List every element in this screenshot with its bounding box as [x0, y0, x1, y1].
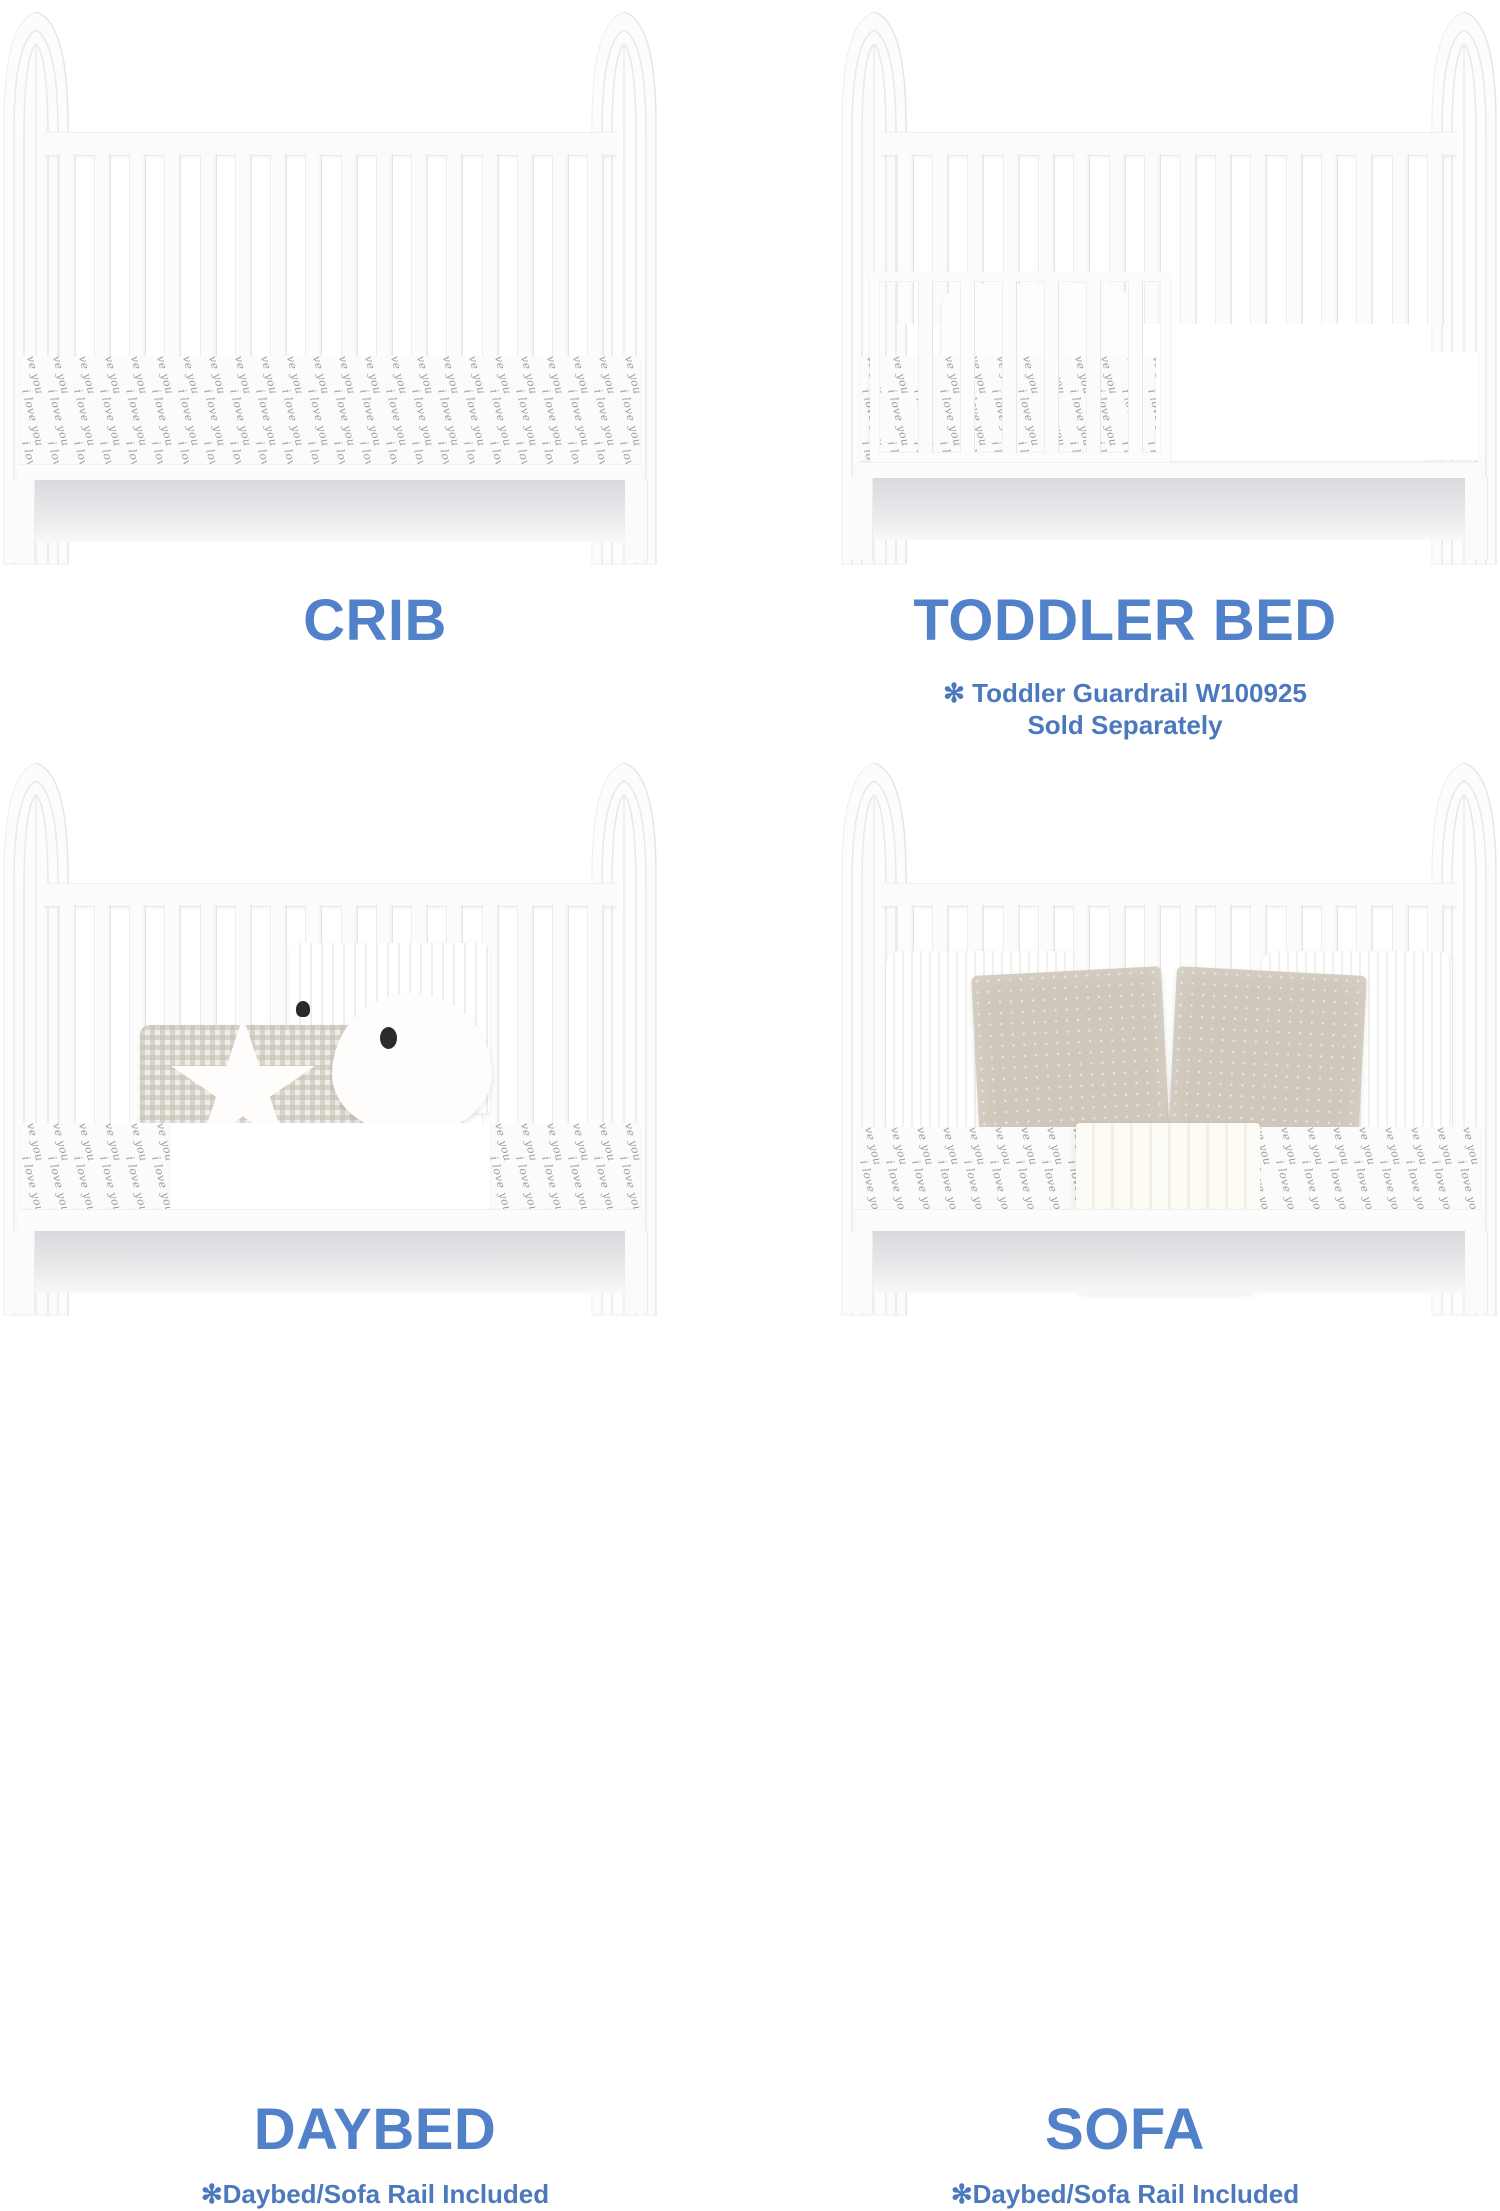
sofa-note: Daybed/Sofa Rail Included [973, 2179, 1300, 2209]
daybed-note: Daybed/Sofa Rail Included [223, 2179, 550, 2209]
sheet-script-text: i love you [858, 1159, 884, 1209]
sheet-script-text: i love you [253, 388, 280, 448]
sheet-script-text: i love you [935, 1159, 962, 1209]
daybed-note-wrap: ✻Daybed/Sofa Rail Included [0, 2179, 750, 2211]
guardrail-slat [918, 281, 933, 453]
sofa-note-wrap: ✻Daybed/Sofa Rail Included [750, 2179, 1500, 2211]
note-sofa: ✻Daybed/Sofa Rail Included [750, 2179, 1500, 2211]
guardrail-slat [1128, 281, 1143, 453]
asterisk-icon: ✻ [951, 2179, 973, 2211]
note-daybed: ✻Daybed/Sofa Rail Included [0, 2179, 750, 2211]
sheet-script-text: i love you [20, 1155, 46, 1209]
guardrail-slat [1044, 281, 1059, 453]
guardrail-frame [870, 272, 1170, 462]
guardrail-slat [1002, 281, 1017, 453]
sheet-script-text: i love you [1455, 1159, 1480, 1209]
sheet-script-text: i love you [97, 1155, 124, 1209]
daybed-under-shadow [34, 1231, 626, 1293]
sheet-script-text: i love you [461, 388, 488, 448]
crib-slat [1321, 154, 1338, 324]
sheet-script-text: i love you [883, 1159, 910, 1209]
toddler-under-shadow [872, 478, 1466, 540]
sheet-script-text: i love you [1403, 1159, 1430, 1209]
crib-top-rail [44, 132, 616, 156]
crib-slat [1427, 154, 1444, 324]
crib-leg-left [12, 480, 35, 562]
sheet-script-text: i love you [149, 388, 176, 448]
crib-slat [552, 905, 569, 1145]
sheet-script-text: i love you [617, 1155, 640, 1209]
sheet-script-text: i love you [513, 1155, 540, 1209]
sofa-under-shadow [872, 1231, 1466, 1293]
guardrail-slat [1086, 281, 1101, 453]
sheet-script-text: i love you [45, 388, 72, 448]
sheet-script-text: i love you [487, 1155, 514, 1209]
daybed-top-rail [44, 883, 616, 907]
toddler-mattress-plain [1156, 352, 1478, 460]
daybed-mattress: i love youi love youi love youi love you… [20, 1123, 640, 1209]
crib-slat [1392, 154, 1409, 324]
sheet-script-text: i love you [435, 388, 462, 448]
sheet-script-text: i love you [175, 388, 202, 448]
crib-slat [94, 905, 111, 1145]
crib-slat [1180, 154, 1197, 324]
sheet-script-text: i love you [565, 1155, 592, 1209]
sheet-script-text: i love you [617, 388, 640, 448]
sheet-script-text: i love you [71, 1155, 98, 1209]
daybed-front-rail [18, 1209, 642, 1232]
crib-illustration-daybed: i love youi love youi love youi love you… [0, 755, 660, 1315]
sheet-script-text: i love you [487, 388, 514, 448]
daybed-leg-left [12, 1231, 35, 1313]
sheet-script-text: i love you [305, 388, 332, 448]
crib-slat [517, 905, 534, 1145]
panel-toddler-bed: i love youi love youi love youi love you… [750, 0, 1500, 745]
toddler-leg-right [1465, 478, 1488, 560]
crib-slat [1215, 154, 1232, 324]
crib-title: CRIB [0, 592, 750, 650]
toddler-note-line1: Toddler Guardrail W100925 [972, 678, 1307, 708]
caption-toddler-bed: TODDLER BED [750, 592, 1500, 650]
caption-daybed: DAYBED [0, 2101, 750, 2159]
crib-slat [587, 905, 604, 1145]
sheet-script-text: i love you [123, 1155, 150, 1209]
sheet-script-text: i love you [383, 388, 410, 448]
sheet-script-text: i love you [45, 1155, 72, 1209]
sheet-script-text: i love you [1013, 1159, 1040, 1209]
sofa-title: SOFA [750, 2101, 1500, 2159]
crib-illustration-toddler-bed: i love youi love youi love youi love you… [838, 4, 1500, 564]
sheet-script-text: i love you [909, 1159, 936, 1209]
note-toddler-bed: ✻ Toddler Guardrail W100925 Sold Separat… [750, 678, 1500, 741]
sofa-front-rail [856, 1209, 1482, 1232]
toddler-note-line1-wrap: ✻ Toddler Guardrail W100925 [750, 678, 1500, 710]
sheet-script-text: i love you [409, 388, 436, 448]
sheet-script-text: i love you [97, 388, 124, 448]
sheet-script-text: i love you [1429, 1159, 1456, 1209]
sheet-script-text: i love you [987, 1159, 1014, 1209]
toddler-guardrail [870, 272, 1170, 462]
panel-sofa: i love youi love youi love youi love you… [750, 745, 1500, 1490]
daybed-title: DAYBED [0, 2101, 750, 2159]
caption-sofa: SOFA [750, 2101, 1500, 2159]
sheet-script-text: i love you [123, 388, 150, 448]
sheet-script-text: i love you [331, 388, 358, 448]
caption-crib: CRIB [0, 592, 750, 650]
toddler-base-rail [856, 462, 1482, 479]
crib-illustration-sofa: i love youi love youi love youi love you… [838, 755, 1500, 1315]
toddler-top-rail [882, 132, 1456, 156]
pillow-nub-icon [296, 1001, 310, 1017]
crib-mattress: i love youi love youi love youi love you… [20, 356, 640, 464]
whale-eye-icon [380, 1027, 397, 1049]
daybed-mattress-center [170, 1123, 490, 1209]
sheet-script-text: i love you [1377, 1159, 1404, 1209]
panel-crib: i love youi love youi love youi love you… [0, 0, 750, 745]
sheet-script-text: i love you [539, 1155, 566, 1209]
sofa-top-rail [882, 883, 1456, 907]
sheet-script-text: i love you [227, 388, 254, 448]
sheet-script-text: i love you [20, 388, 46, 448]
sofa-leg-right [1465, 1231, 1488, 1313]
sheet-script-text: i love you [1351, 1159, 1378, 1209]
sheet-script-text: i love you [1273, 1159, 1300, 1209]
sheet-script-text: i love you [591, 388, 618, 448]
sofa-leg-left [850, 1231, 873, 1313]
sheet-script-text: i love you [1299, 1159, 1326, 1209]
crib-slat [1250, 154, 1267, 324]
panel-daybed: i love youi love youi love youi love you… [0, 745, 750, 1490]
crib-under-shadow [34, 480, 626, 542]
sheet-script-text: i love you [201, 388, 228, 448]
sheet-script-text: i love you [71, 388, 98, 448]
infographic-board: i love youi love youi love youi love you… [0, 0, 1500, 1490]
sheet-script-text: i love you [1039, 1159, 1066, 1209]
crib-slat [59, 905, 76, 1145]
crib-fitted-sheet: i love youi love youi love youi love you… [20, 356, 640, 464]
sheet-script-text: i love you [539, 388, 566, 448]
asterisk-icon: ✻ [943, 678, 965, 710]
sheet-script-text: i love you [1325, 1159, 1352, 1209]
daybed-leg-right [625, 1231, 648, 1313]
toddler-leg-left [850, 478, 873, 560]
sheet-script-text: i love you [961, 1159, 988, 1209]
sheet-script-text: i love you [357, 388, 384, 448]
guardrail-slat [960, 281, 975, 453]
crib-slat [1286, 154, 1303, 324]
crib-leg-right [625, 480, 648, 562]
crib-base-rail [18, 464, 642, 481]
toddler-bed-title: TODDLER BED [750, 592, 1500, 650]
toddler-note-line2: Sold Separately [750, 710, 1500, 742]
crib-slat [1356, 154, 1373, 324]
sheet-script-text: i love you [565, 388, 592, 448]
sheet-script-text: i love you [591, 1155, 618, 1209]
crib-illustration-crib: i love youi love youi love youi love you… [0, 4, 660, 564]
sheet-script-text: i love you [513, 388, 540, 448]
sheet-script-text: i love you [279, 388, 306, 448]
asterisk-icon: ✻ [201, 2179, 223, 2211]
